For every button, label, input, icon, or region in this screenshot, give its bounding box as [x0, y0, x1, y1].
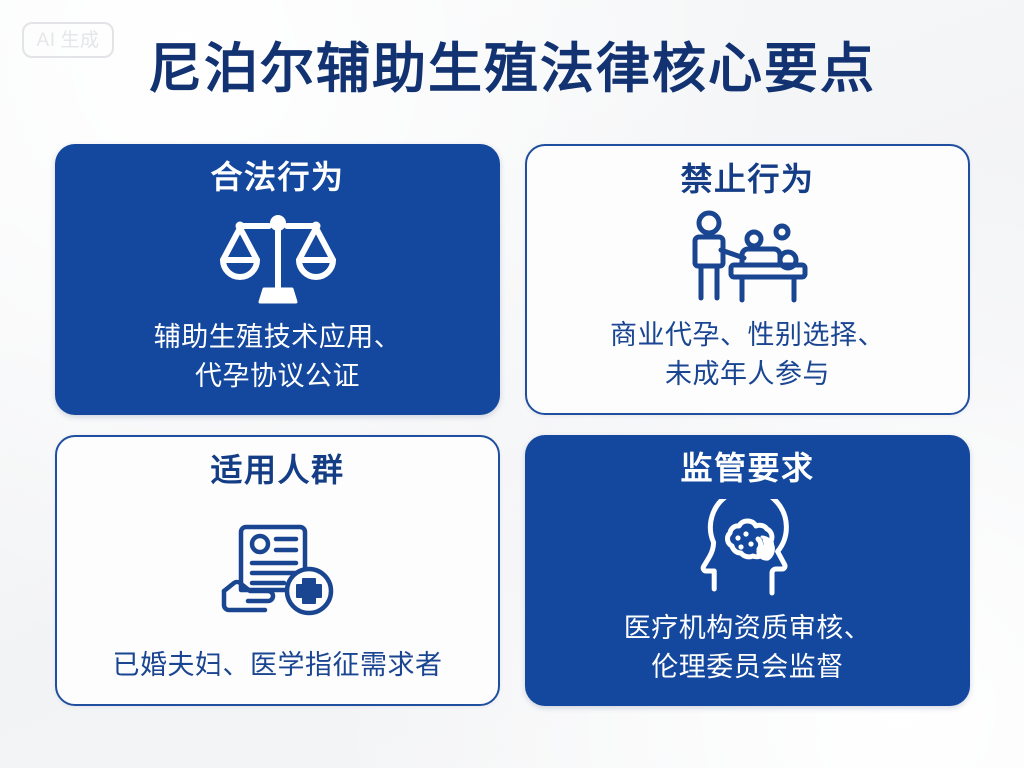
head-brain-icon — [543, 487, 952, 609]
card-title-regulatory-requirements: 监管要求 — [680, 449, 814, 487]
card-title-eligible-population: 适用人群 — [210, 451, 344, 489]
card-desc-legal-acts: 辅助生殖技术应用、 代孕协议公证 — [154, 318, 402, 399]
card-title-prohibited-acts: 禁止行为 — [680, 160, 814, 198]
medical-procedure-icon — [545, 198, 950, 316]
page-title: 尼泊尔辅助生殖法律核心要点 — [0, 40, 1024, 99]
desc-line: 已婚夫妇、医学指征需求者 — [113, 646, 443, 684]
card-eligible-population[interactable]: 适用人群 已婚夫妇、医学指征需求者 — [55, 435, 500, 706]
desc-line: 辅助生殖技术应用、 — [154, 318, 402, 356]
card-grid: 合法行为 辅助生殖技术应用、 代孕协议公证 禁止行为 — [55, 144, 970, 706]
card-desc-regulatory-requirements: 医疗机构资质审核、 伦理委员会监督 — [624, 609, 872, 690]
card-title-legal-acts: 合法行为 — [210, 158, 344, 196]
desc-line: 伦理委员会监督 — [624, 648, 872, 686]
hand-document-medical-icon — [75, 489, 480, 645]
card-legal-acts[interactable]: 合法行为 辅助生殖技术应用、 代孕协议公证 — [55, 144, 500, 415]
ai-generated-watermark-badge: AI 生成 — [22, 22, 114, 58]
card-regulatory-requirements[interactable]: 监管要求 医疗机构资质审核、 伦理委员会监督 — [525, 435, 970, 706]
desc-line: 代孕协议公证 — [154, 357, 402, 395]
balance-scale-icon — [73, 196, 482, 318]
card-prohibited-acts[interactable]: 禁止行为 商业代孕、性别 — [525, 144, 970, 415]
card-desc-prohibited-acts: 商业代孕、性别选择、 未成年人参与 — [610, 316, 885, 397]
card-desc-eligible-population: 已婚夫妇、医学指征需求者 — [113, 646, 443, 688]
desc-line: 医疗机构资质审核、 — [624, 609, 872, 647]
desc-line: 未成年人参与 — [610, 355, 885, 393]
desc-line: 商业代孕、性别选择、 — [610, 316, 885, 354]
ai-badge-label-en: AI — [37, 31, 56, 50]
ai-badge-label-cn: 生成 — [60, 31, 99, 50]
